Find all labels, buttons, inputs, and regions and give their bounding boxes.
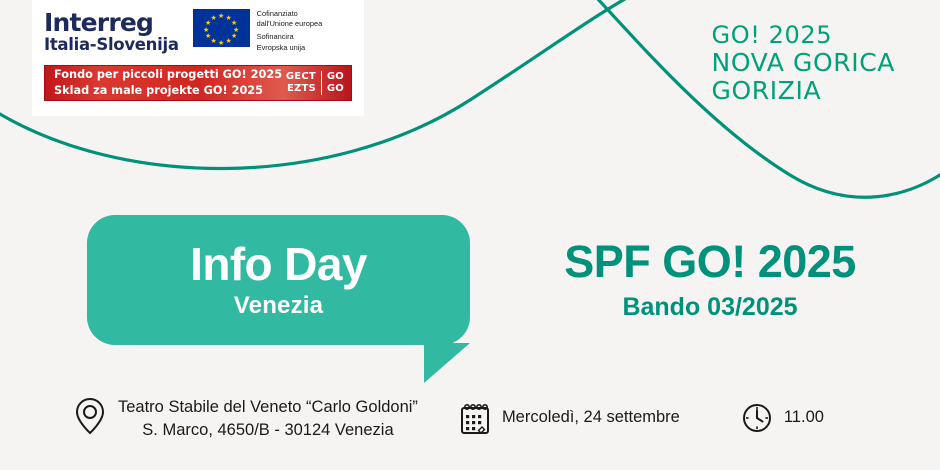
bubble-title: Info Day	[190, 240, 367, 288]
bubble-body: Info Day Venezia	[87, 215, 470, 345]
event-headline: SPF GO! 2025 Bando 03/2025	[500, 238, 920, 322]
eu-text-it-1: Cofinanziato	[257, 9, 323, 19]
bubble-subtitle: Venezia	[234, 292, 323, 320]
poster-canvas: Interreg Italia-Slovenija ★ ★ ★ ★ ★ ★ ★ …	[0, 0, 940, 470]
venue-info: Teatro Stabile del Veneto “Carlo Goldoni…	[74, 396, 418, 443]
eu-emblem-block: ★ ★ ★ ★ ★ ★ ★ ★ ★ ★ ★ ★ Cofinanziato	[193, 6, 323, 53]
clock-icon	[742, 403, 772, 433]
interreg-logo: Interreg Italia-Slovenija	[44, 6, 179, 56]
venue-line-2: S. Marco, 4650/B - 30124 Venezia	[118, 419, 418, 442]
eu-funding-text: Cofinanziato dall'Unione europea Sofinan…	[257, 9, 323, 53]
fund-line-sl: Sklad za male projekte GO! 2025	[54, 83, 282, 98]
interreg-name: Interreg	[44, 10, 179, 35]
fund-bar-text: Fondo per piccoli progetti GO! 2025 Skla…	[54, 67, 282, 98]
eu-text-sl-2: Evropska unija	[257, 43, 323, 53]
gect-left: GECT EZTS	[286, 71, 321, 94]
calendar-icon	[460, 403, 490, 435]
gect-right: GO GO	[322, 71, 344, 94]
bubble-tail	[424, 343, 470, 383]
headline-main: SPF GO! 2025	[500, 238, 920, 285]
date-info: Mercoledì, 24 settembre	[460, 396, 680, 435]
gect-go-logo: GECT EZTS GO GO	[286, 71, 344, 95]
gect-go-it: GO	[327, 71, 344, 83]
interreg-programme: Italia-Slovenija	[44, 35, 179, 56]
gect-acronym-sl: EZTS	[286, 83, 316, 95]
wordmark-line-3: GORIZIA	[712, 77, 895, 105]
wordmark-line-1: GO! 2025	[712, 22, 895, 49]
event-details-row: Teatro Stabile del Veneto “Carlo Goldoni…	[0, 396, 940, 458]
eu-text-sl-1: Sofinancira	[257, 32, 323, 42]
fund-red-bar: Fondo per piccoli progetti GO! 2025 Skla…	[44, 65, 352, 101]
fund-line-it: Fondo per piccoli progetti GO! 2025	[54, 67, 282, 82]
venue-text: Teatro Stabile del Veneto “Carlo Goldoni…	[118, 396, 418, 443]
gect-go-sl: GO	[327, 83, 344, 95]
map-pin-icon	[74, 396, 106, 436]
eu-flag-icon: ★ ★ ★ ★ ★ ★ ★ ★ ★ ★ ★ ★	[193, 9, 250, 47]
wordmark-line-2: NOVA GORICA	[712, 49, 895, 77]
time-text: 11.00	[784, 403, 824, 429]
logo-top-row: Interreg Italia-Slovenija ★ ★ ★ ★ ★ ★ ★ …	[44, 6, 352, 56]
gect-acronym-it: GECT	[286, 71, 316, 83]
funding-logo-card: Interreg Italia-Slovenija ★ ★ ★ ★ ★ ★ ★ …	[32, 0, 364, 116]
date-text: Mercoledì, 24 settembre	[502, 403, 680, 429]
headline-sub: Bando 03/2025	[500, 293, 920, 322]
go2025-wordmark: GO! 2025 NOVA GORICA GORIZIA	[712, 22, 895, 105]
info-day-speech-bubble: Info Day Venezia	[87, 215, 470, 370]
eu-text-it-2: dall'Unione europea	[257, 19, 323, 29]
time-info: 11.00	[742, 396, 824, 433]
venue-line-1: Teatro Stabile del Veneto “Carlo Goldoni…	[118, 396, 418, 419]
